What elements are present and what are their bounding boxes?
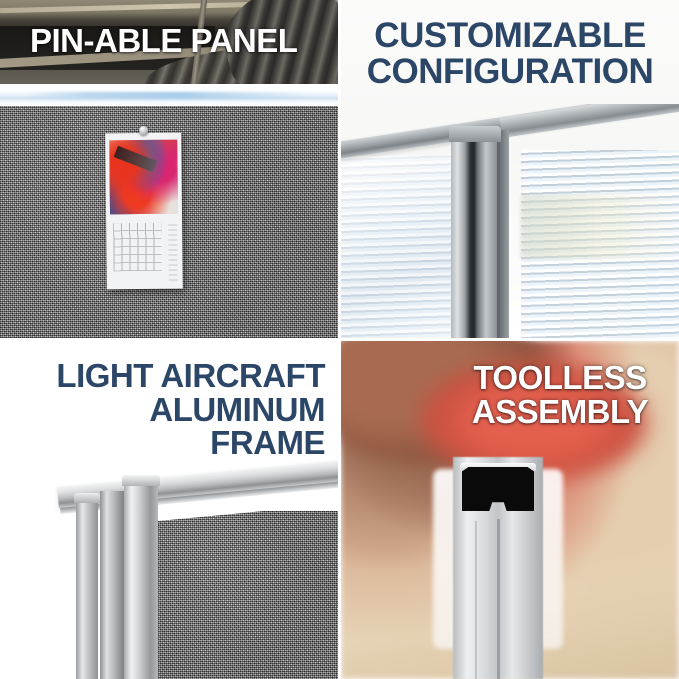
pinned-calendar bbox=[105, 133, 183, 290]
caption-line: ASSEMBLY bbox=[449, 395, 671, 429]
frame-vertical-post-front bbox=[124, 481, 158, 679]
caption-line: CUSTOMIZABLE bbox=[351, 18, 669, 54]
caption-line: CONFIGURATION bbox=[351, 54, 669, 90]
calendar-date-grid bbox=[113, 223, 162, 272]
panel-pin-able-panel: PIN-ABLE PANEL bbox=[0, 0, 338, 338]
caption-light-aircraft-aluminum-frame: LIGHT AIRCRAFT ALUMINUM FRAME bbox=[8, 359, 325, 460]
frame-fabric-infill bbox=[158, 511, 338, 679]
caption-customizable-configuration: CUSTOMIZABLE CONFIGURATION bbox=[351, 18, 669, 89]
frame-post-cap-rear-icon bbox=[74, 493, 100, 503]
caption-line: PIN-ABLE PANEL bbox=[30, 24, 330, 58]
calendar-artwork bbox=[109, 140, 178, 215]
panel-light-aircraft-aluminum-frame: LIGHT AIRCRAFT ALUMINUM FRAME bbox=[0, 341, 338, 679]
frame-post-edge bbox=[497, 130, 509, 338]
caption-pin-able-panel: PIN-ABLE PANEL bbox=[30, 24, 330, 58]
feature-collage: PIN-ABLE PANEL CUSTOMIZABLE CONFIGURATIO… bbox=[0, 0, 679, 679]
frame-corner-post bbox=[451, 134, 497, 338]
push-pin-icon bbox=[139, 126, 148, 135]
panel-toolless-assembly: TOOLLESS ASSEMBLY bbox=[341, 341, 679, 679]
caption-toolless-assembly: TOOLLESS ASSEMBLY bbox=[449, 361, 671, 428]
frame-top-rail-right bbox=[500, 104, 679, 138]
aluminum-extrusion bbox=[453, 457, 543, 679]
calendar-month-label bbox=[168, 221, 178, 281]
extrusion-groove-center bbox=[497, 519, 500, 679]
fluorescent-light-strip bbox=[0, 84, 338, 106]
caption-line: ALUMINUM bbox=[8, 393, 325, 427]
frame-post-cap-icon bbox=[449, 126, 501, 142]
caption-line: FRAME bbox=[8, 426, 325, 460]
frame-vertical-post-rear bbox=[76, 499, 98, 679]
panel-customizable-configuration: CUSTOMIZABLE CONFIGURATION bbox=[341, 0, 679, 338]
frame-post-cap-front-icon bbox=[122, 475, 160, 486]
glass-partition-photo bbox=[341, 104, 679, 338]
extrusion-groove-side bbox=[475, 521, 477, 679]
caption-line: LIGHT AIRCRAFT bbox=[8, 359, 325, 393]
caption-line: TOOLLESS bbox=[449, 361, 671, 395]
window-blinds-right bbox=[521, 150, 679, 338]
frame-vertical-post-mid bbox=[100, 491, 124, 679]
